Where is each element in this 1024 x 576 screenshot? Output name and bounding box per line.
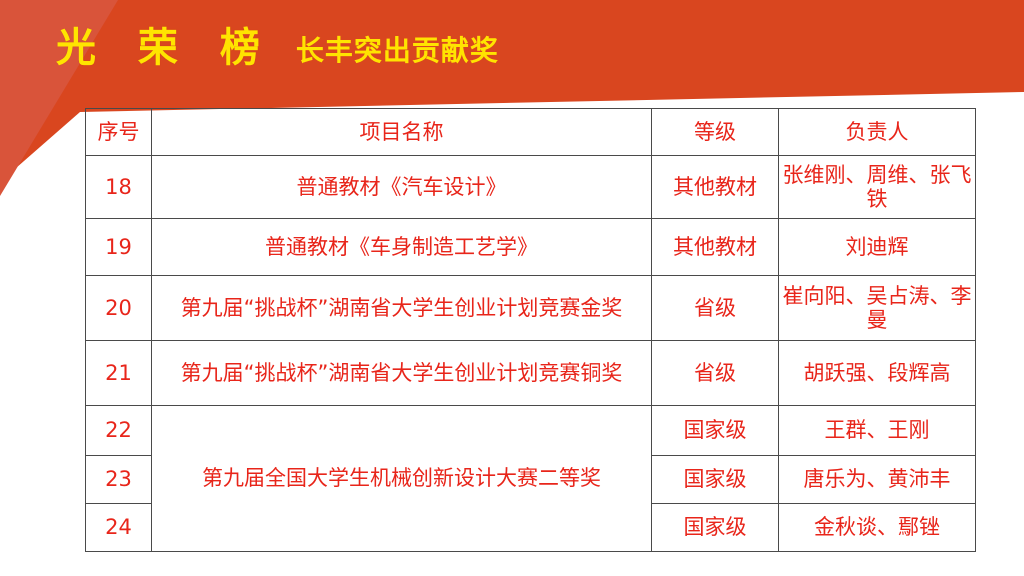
column-header-name: 项目名称: [152, 109, 652, 156]
cell-level: 其他教材: [652, 156, 779, 219]
table-row: 20 第九届“挑战杯”湖南省大学生创业计划竞赛金奖 省级 崔向阳、吴占涛、李曼: [86, 276, 976, 341]
cell-level: 国家级: [652, 406, 779, 456]
table-header-row: 序号 项目名称 等级 负责人: [86, 109, 976, 156]
cell-level: 国家级: [652, 504, 779, 552]
table-header: 序号 项目名称 等级 负责人: [86, 109, 976, 156]
title-block: 光 荣 榜 长丰突出贡献奖: [0, 0, 1024, 96]
cell-name: 第九届“挑战杯”湖南省大学生创业计划竞赛金奖: [152, 276, 652, 341]
cell-level: 省级: [652, 341, 779, 406]
cell-level: 国家级: [652, 456, 779, 504]
column-header-level: 等级: [652, 109, 779, 156]
cell-leader: 王群、王刚: [779, 406, 976, 456]
cell-name-merged: 第九届全国大学生机械创新设计大赛二等奖: [152, 406, 652, 552]
cell-leader: 崔向阳、吴占涛、李曼: [779, 276, 976, 341]
page-title: 光 荣 榜: [56, 28, 274, 68]
cell-name: 第九届“挑战杯”湖南省大学生创业计划竞赛铜奖: [152, 341, 652, 406]
column-header-lead: 负责人: [779, 109, 976, 156]
cell-no: 19: [86, 219, 152, 276]
column-header-no: 序号: [86, 109, 152, 156]
cell-no: 24: [86, 504, 152, 552]
cell-level: 省级: [652, 276, 779, 341]
cell-name: 普通教材《汽车设计》: [152, 156, 652, 219]
slide-root: 光 荣 榜 长丰突出贡献奖 序号 项目名称 等级 负责人 18 普通教材《汽车设…: [0, 0, 1024, 576]
cell-no: 23: [86, 456, 152, 504]
table-row: 19 普通教材《车身制造工艺学》 其他教材 刘迪辉: [86, 219, 976, 276]
cell-name: 普通教材《车身制造工艺学》: [152, 219, 652, 276]
cell-leader: 张维刚、周维、张飞铁: [779, 156, 976, 219]
table-row: 22 第九届全国大学生机械创新设计大赛二等奖 国家级 王群、王刚: [86, 406, 976, 456]
cell-leader: 刘迪辉: [779, 219, 976, 276]
cell-leader: 金秋谈、鄢锉: [779, 504, 976, 552]
table-row: 21 第九届“挑战杯”湖南省大学生创业计划竞赛铜奖 省级 胡跃强、段辉高: [86, 341, 976, 406]
cell-leader: 胡跃强、段辉高: [779, 341, 976, 406]
cell-no: 21: [86, 341, 152, 406]
cell-no: 22: [86, 406, 152, 456]
table-row: 18 普通教材《汽车设计》 其他教材 张维刚、周维、张飞铁: [86, 156, 976, 219]
cell-level: 其他教材: [652, 219, 779, 276]
page-subtitle: 长丰突出贡献奖: [296, 37, 499, 65]
cell-no: 18: [86, 156, 152, 219]
cell-leader: 唐乐为、黄沛丰: [779, 456, 976, 504]
table-body: 18 普通教材《汽车设计》 其他教材 张维刚、周维、张飞铁 19 普通教材《车身…: [86, 156, 976, 552]
cell-no: 20: [86, 276, 152, 341]
honor-roll-table: 序号 项目名称 等级 负责人 18 普通教材《汽车设计》 其他教材 张维刚、周维…: [85, 108, 976, 552]
